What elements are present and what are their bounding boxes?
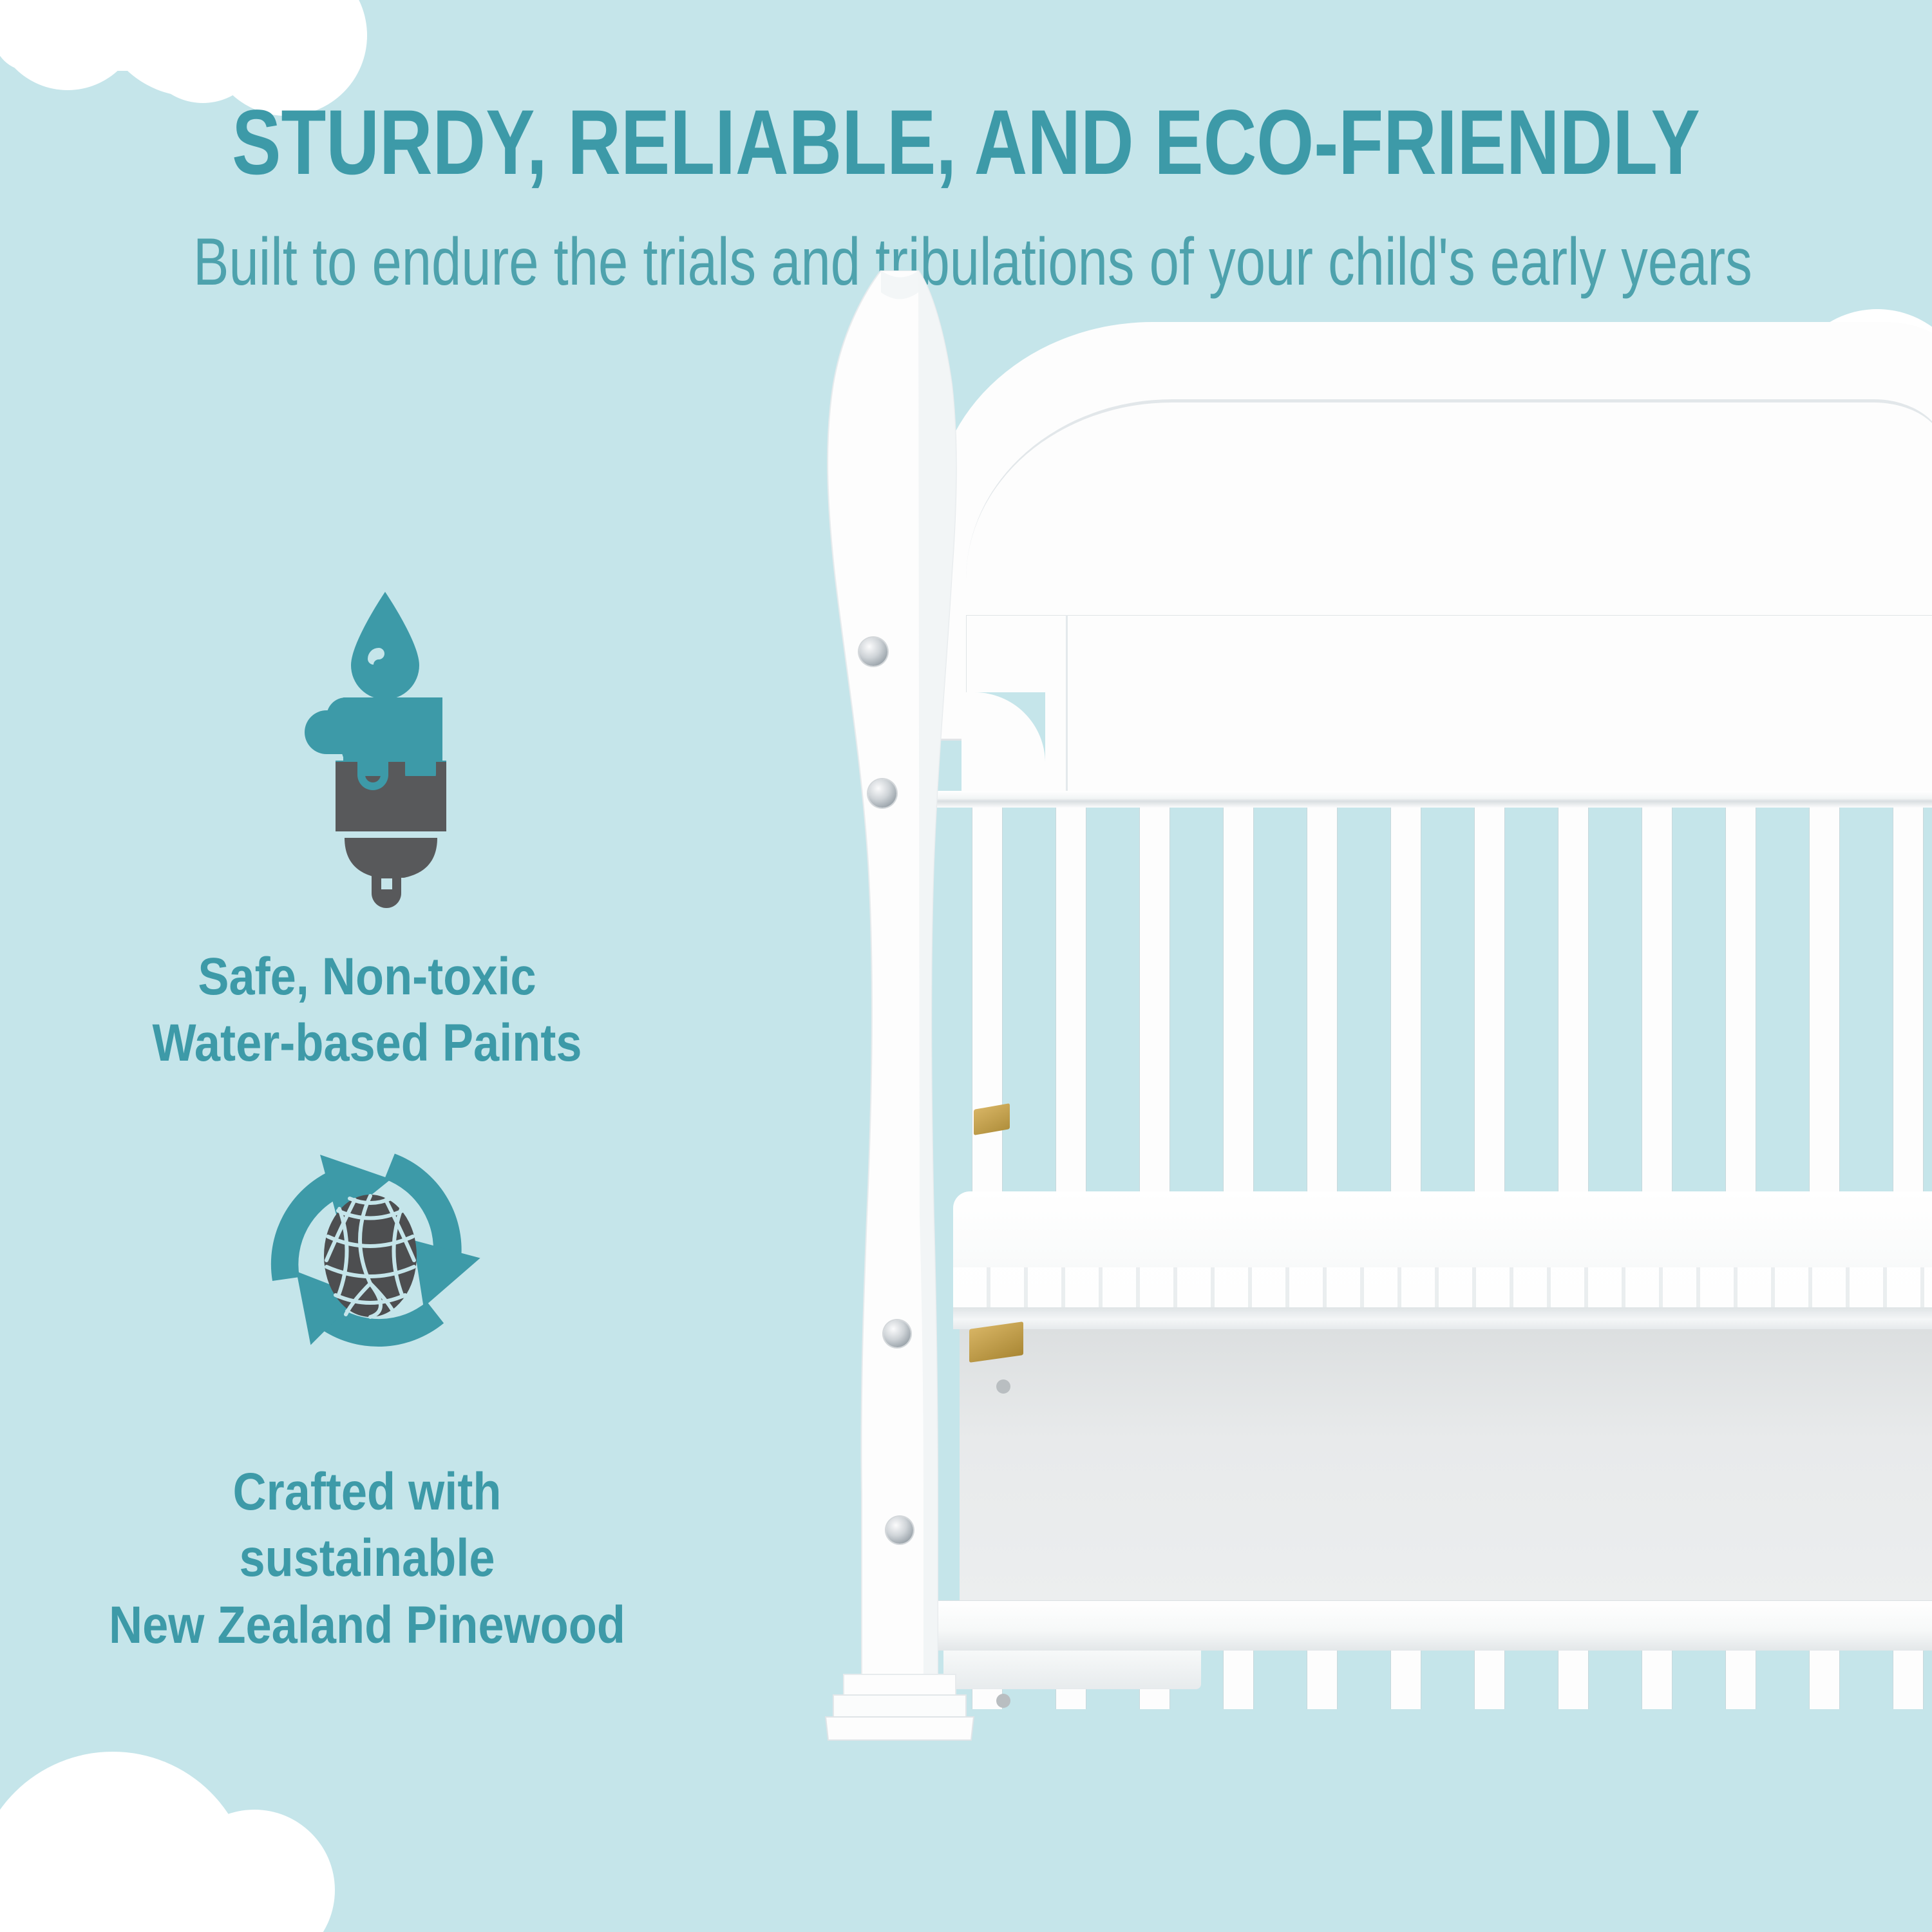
recycle-pinecone-icon — [241, 1124, 499, 1381]
crib-screw-cap-2 — [868, 779, 896, 808]
crib-adjuster-hole-upper — [996, 1379, 1010, 1394]
feature-caption-pinewood: Crafted with sustainable New Zealand Pin… — [100, 1459, 633, 1658]
feature-caption-paints: Safe, Non-toxic Water-based Paints — [118, 943, 616, 1077]
crib-screw-cap-3 — [884, 1320, 911, 1347]
crib-top-rail — [934, 791, 1932, 808]
page-headline: STURDY, RELIABLE, AND ECO-FRIENDLY — [193, 97, 1739, 189]
convertible-crib-photo — [805, 361, 1932, 1855]
crib-corner-post — [805, 270, 998, 1790]
crib-under-mattress-shadow — [960, 1329, 1932, 1606]
crib-screw-cap-1 — [859, 638, 887, 666]
cloud-top-left — [0, 0, 393, 64]
crib-bottom-rail — [934, 1600, 1932, 1651]
paint-brush-water-drop-icon — [293, 583, 480, 911]
crib-mattress-side — [953, 1307, 1932, 1329]
crib-adjuster-hole-lower — [996, 1694, 1010, 1708]
crib-headboard-panel-seam — [1066, 615, 1068, 792]
cloud-bottom-left — [0, 1752, 361, 1932]
crib-headboard-panel — [966, 615, 1932, 792]
marketing-banner: STURDY, RELIABLE, AND ECO-FRIENDLY Built… — [0, 0, 1932, 1932]
crib-screw-cap-4 — [886, 1517, 913, 1544]
